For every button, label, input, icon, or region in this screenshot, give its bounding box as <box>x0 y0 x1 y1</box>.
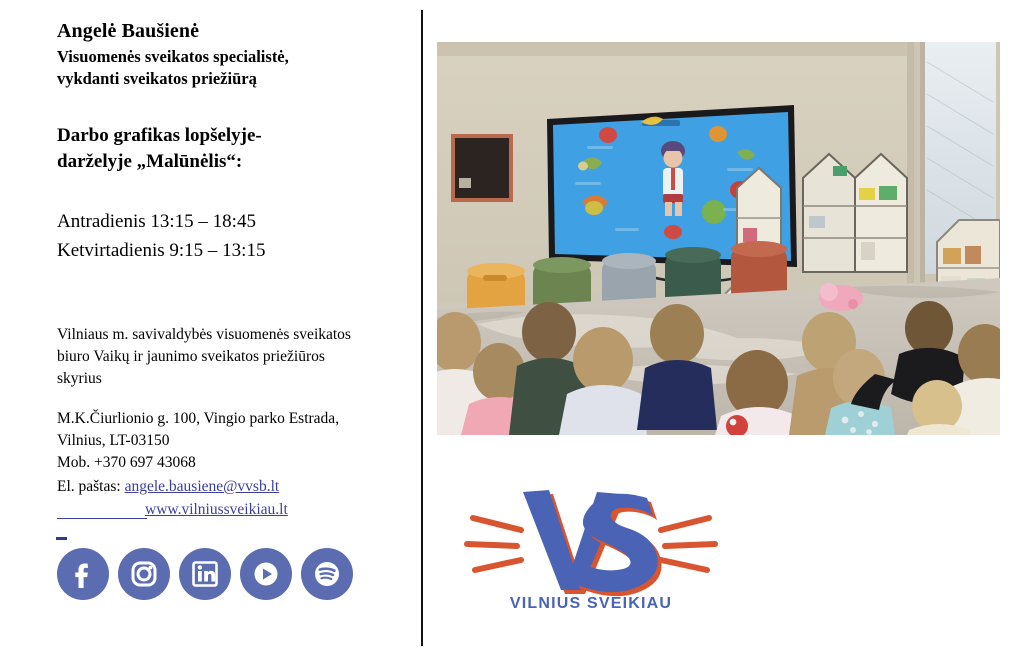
email-label: El. paštas: <box>57 478 121 495</box>
linkedin-icon[interactable] <box>179 548 231 600</box>
schedule-hours: 9:15 – 13:15 <box>169 240 265 261</box>
organization-line-2: biuro Vaikų ir jaunimo sveikatos priežiū… <box>57 346 425 368</box>
logo-ray-right <box>661 518 715 570</box>
contact-role-line-1: Visuomenės sveikatos specialistė, <box>57 46 407 68</box>
website-underline-lead <box>57 518 147 520</box>
email-block: El. paštas: angele.bausiene@vvsb.lt www.… <box>57 476 425 521</box>
schedule-heading-line-1: Darbo grafikas lopšelyje- <box>57 123 397 149</box>
schedule-heading-line-2: darželyje „Malūnėlis“: <box>57 149 397 175</box>
schedule-row: Antradienis 13:15 – 18:45 <box>57 208 407 237</box>
schedule-hours: 13:15 – 18:45 <box>150 211 256 232</box>
organization-block: Vilniaus m. savivaldybės visuomenės svei… <box>57 324 425 390</box>
schedule-row: Ketvirtadienis 9:15 – 13:15 <box>57 237 407 266</box>
organization-line-1: Vilniaus m. savivaldybės visuomenės svei… <box>57 324 425 346</box>
right-media-column: VILNIUS SVEIKIAU <box>421 0 1024 654</box>
contact-role: Visuomenės sveikatos specialistė, vykdan… <box>57 46 407 90</box>
schedule-day: Ketvirtadienis <box>57 240 169 261</box>
website-link[interactable]: www.vilniussveikiau.lt <box>145 501 288 518</box>
dash-mark <box>56 537 67 540</box>
left-info-column: Angelė Baušienė Visuomenės sveikatos spe… <box>0 0 415 654</box>
page-title: Angelė Baušienė <box>57 20 199 44</box>
spotify-icon[interactable] <box>301 548 353 600</box>
logo-tagline: VILNIUS SVEIKIAU <box>510 595 672 612</box>
email-link[interactable]: angele.bausiene@vvsb.lt <box>125 478 280 495</box>
website-row: www.vilniussveikiau.lt <box>57 499 425 522</box>
instagram-icon[interactable] <box>118 548 170 600</box>
email-row: El. paštas: angele.bausiene@vvsb.lt <box>57 476 425 499</box>
logo-ray-left <box>467 518 521 570</box>
social-links-row <box>57 548 353 600</box>
contact-role-line-2: vykdanti sveikatos priežiūrą <box>57 68 407 90</box>
vs-logo: VILNIUS SVEIKIAU <box>461 472 721 617</box>
schedule-day: Antradienis <box>57 211 150 232</box>
organization-line-3: skyrius <box>57 368 425 390</box>
youtube-icon[interactable] <box>240 548 292 600</box>
schedule-list: Antradienis 13:15 – 18:45 Ketvirtadienis… <box>57 208 407 266</box>
facebook-icon[interactable] <box>57 548 109 600</box>
schedule-heading: Darbo grafikas lopšelyje- darželyje „Mal… <box>57 123 397 174</box>
phone-number: Mob. +370 697 43068 <box>57 452 425 474</box>
address-street: M.K.Čiurlionio g. 100, Vingio parko Estr… <box>57 408 425 430</box>
classroom-photo <box>437 42 1000 435</box>
address-city: Vilnius, LT-03150 <box>57 430 425 452</box>
address-block: M.K.Čiurlionio g. 100, Vingio parko Estr… <box>57 408 425 474</box>
